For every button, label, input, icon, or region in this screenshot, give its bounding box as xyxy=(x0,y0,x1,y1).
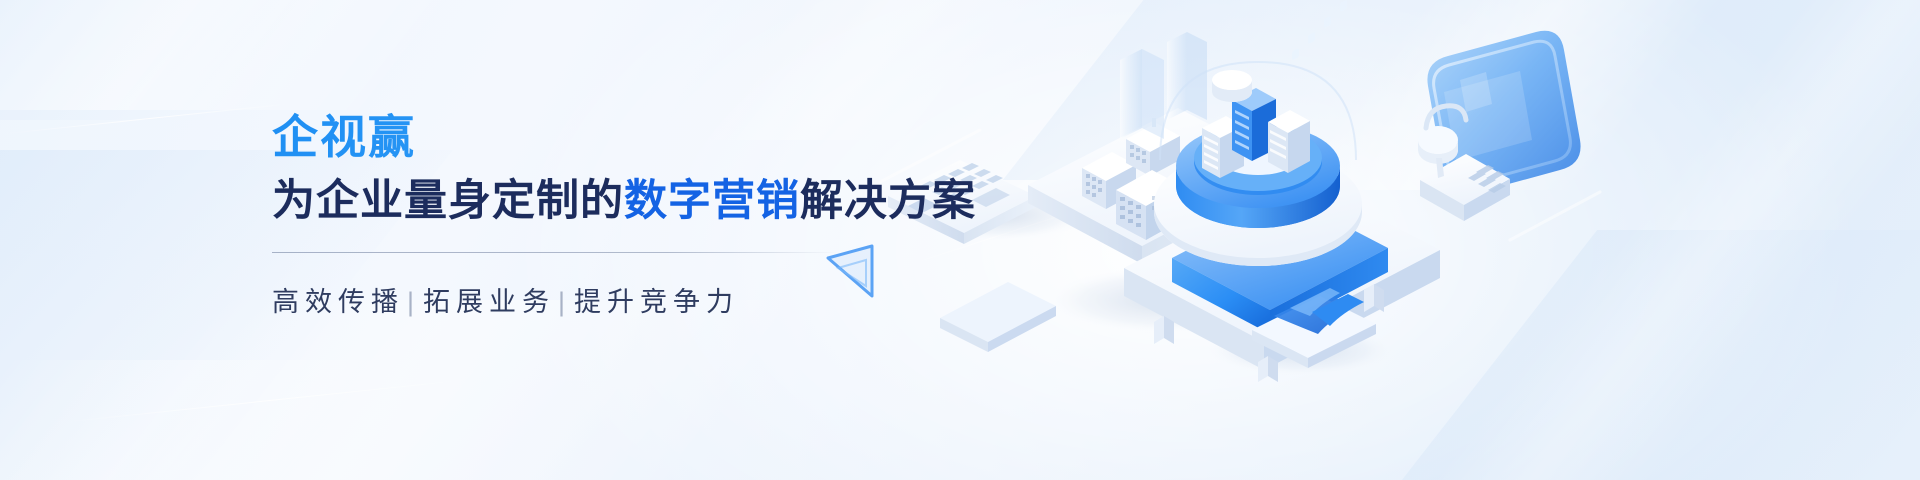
hero-banner: 企视赢 为企业量身定制的数字营销解决方案 高效传播|拓展业务|提升竞争力 xyxy=(0,0,1920,480)
tagline-item-2: 拓展业务 xyxy=(423,287,555,317)
tagline-item-3: 提升竞争力 xyxy=(574,287,739,317)
tagline-separator: | xyxy=(558,287,565,317)
bg-streak xyxy=(30,300,830,480)
page-title: 为企业量身定制的数字营销解决方案 xyxy=(272,177,1032,226)
brand-title: 企视赢 xyxy=(272,112,1032,163)
divider xyxy=(272,252,838,253)
bg-streak xyxy=(0,360,423,480)
tagline-separator: | xyxy=(407,287,414,317)
hero-text-block: 企视赢 为企业量身定制的数字营销解决方案 高效传播|拓展业务|提升竞争力 xyxy=(272,112,1032,319)
bg-hairline xyxy=(61,378,479,423)
headline-highlight: 数字营销 xyxy=(624,177,800,225)
tagline: 高效传播|拓展业务|提升竞争力 xyxy=(272,280,1032,319)
bg-hairline xyxy=(1,102,299,134)
bg-tint-band xyxy=(0,0,394,120)
headline-suffix: 解决方案 xyxy=(800,177,976,225)
tagline-item-1: 高效传播 xyxy=(272,287,404,317)
bg-streak xyxy=(0,0,499,110)
headline-prefix: 为企业量身定制的 xyxy=(272,177,624,225)
